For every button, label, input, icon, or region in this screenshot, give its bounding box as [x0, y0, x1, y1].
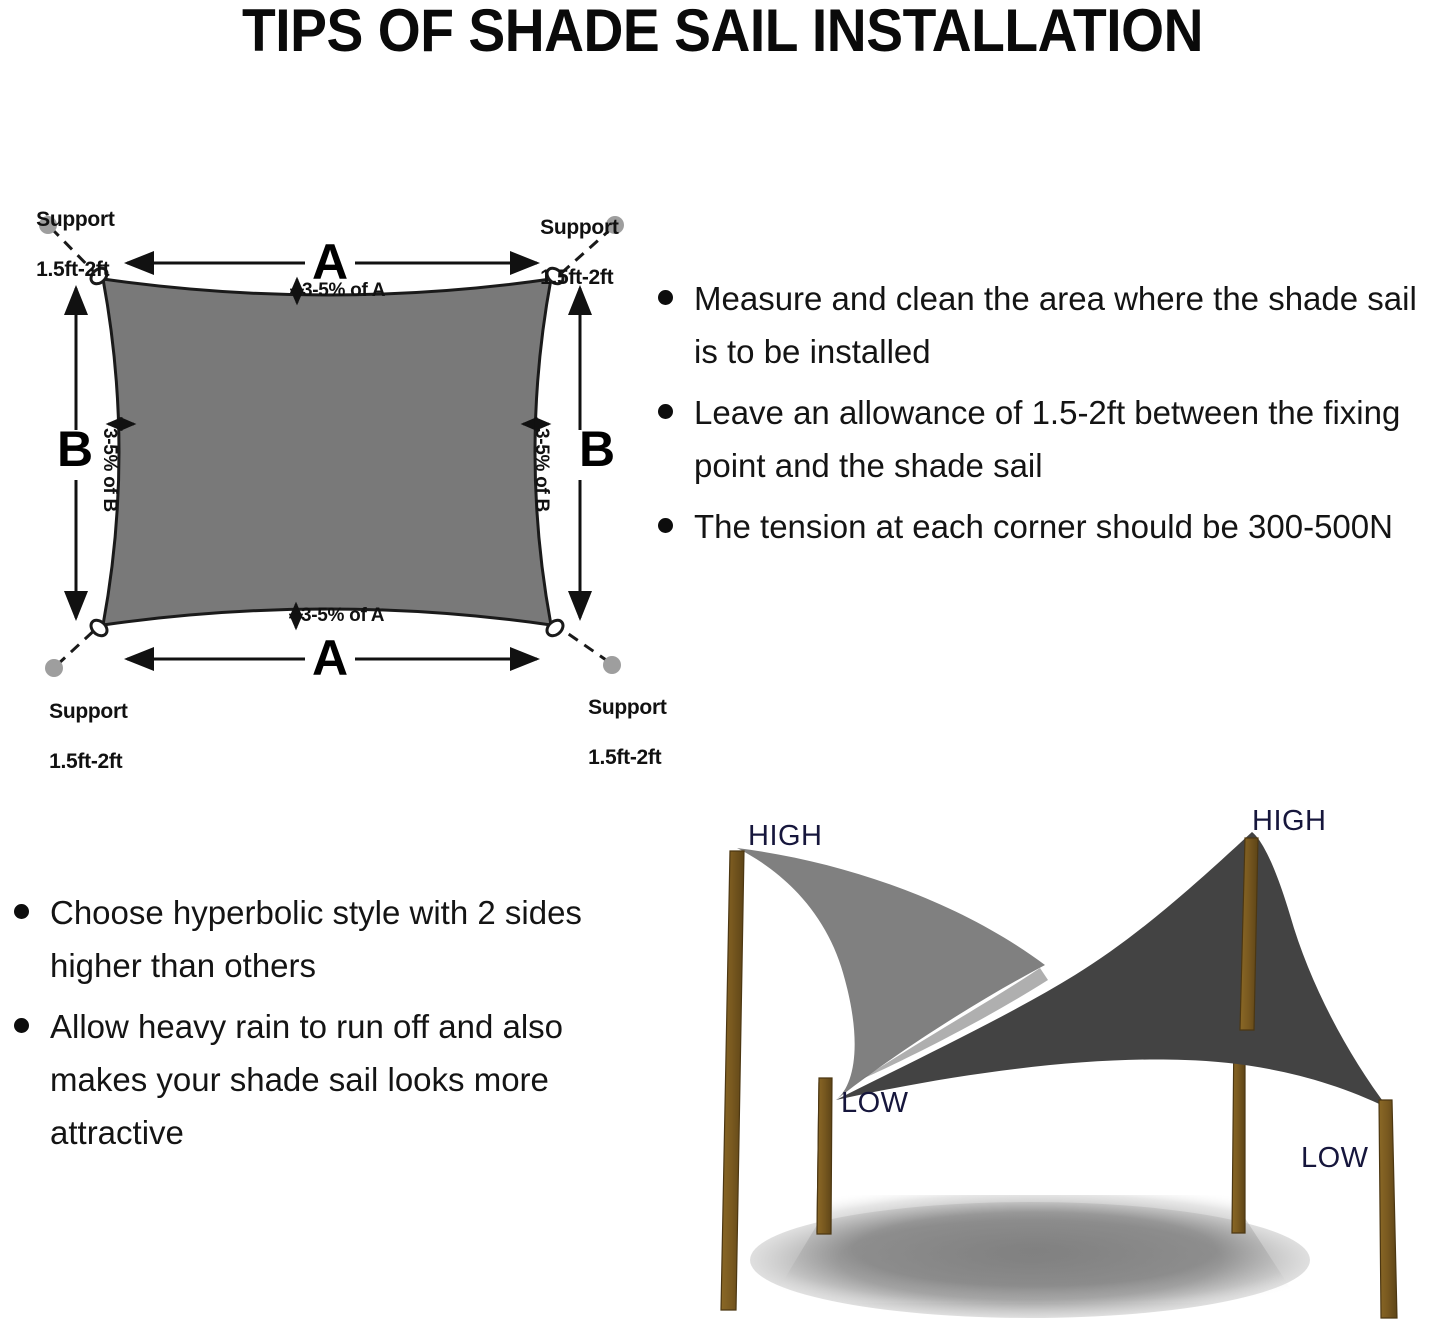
dimension-letter-a-bottom: A	[312, 633, 348, 683]
support-label-bottom-left: Support 1.5ft-2ft	[27, 674, 128, 799]
list-item: Leave an allowance of 1.5-2ft between th…	[648, 386, 1445, 492]
installation-tips-list: Measure and clean the area where the sha…	[648, 272, 1445, 561]
support-label-line2: 1.5ft-2ft	[588, 746, 661, 769]
support-label-top-right: Support 1.5ft-2ft	[518, 190, 619, 315]
support-label-line1: Support	[36, 208, 114, 231]
label-low-left: LOW	[841, 1087, 909, 1120]
infographic-page: TIPS OF SHADE SAIL INSTALLATION	[0, 0, 1445, 1319]
support-label-top-left: Support 1.5ft-2ft	[14, 182, 115, 307]
support-label-line2: 1.5ft-2ft	[540, 266, 613, 289]
label-high-left: HIGH	[748, 820, 823, 853]
support-label-line1: Support	[540, 216, 618, 239]
slack-label-top-a: 3-5% of A	[302, 281, 385, 301]
support-label-line2: 1.5ft-2ft	[49, 750, 122, 773]
slack-label-bottom-a: 3-5% of A	[301, 606, 384, 626]
list-item: Choose hyperbolic style with 2 sides hig…	[4, 886, 624, 992]
slack-label-left-b: 3-5% of B	[99, 428, 119, 512]
dimension-letter-b-right: B	[579, 424, 615, 474]
label-low-right: LOW	[1301, 1142, 1369, 1175]
support-label-line1: Support	[49, 700, 127, 723]
slack-label-right-b: 3-5% of B	[531, 428, 551, 512]
list-item: The tension at each corner should be 300…	[648, 500, 1445, 553]
support-label-line1: Support	[588, 696, 666, 719]
page-title: TIPS OF SHADE SAIL INSTALLATION	[58, 0, 1387, 68]
support-label-bottom-right: Support 1.5ft-2ft	[566, 670, 667, 795]
list-item: Measure and clean the area where the sha…	[648, 272, 1445, 378]
label-high-right: HIGH	[1252, 805, 1327, 838]
support-label-line2: 1.5ft-2ft	[36, 258, 109, 281]
list-item: Allow heavy rain to run off and also mak…	[4, 1000, 624, 1159]
dimension-letter-b-left: B	[57, 424, 93, 474]
hyperbolic-style-tips-list: Choose hyperbolic style with 2 sides hig…	[4, 886, 624, 1167]
